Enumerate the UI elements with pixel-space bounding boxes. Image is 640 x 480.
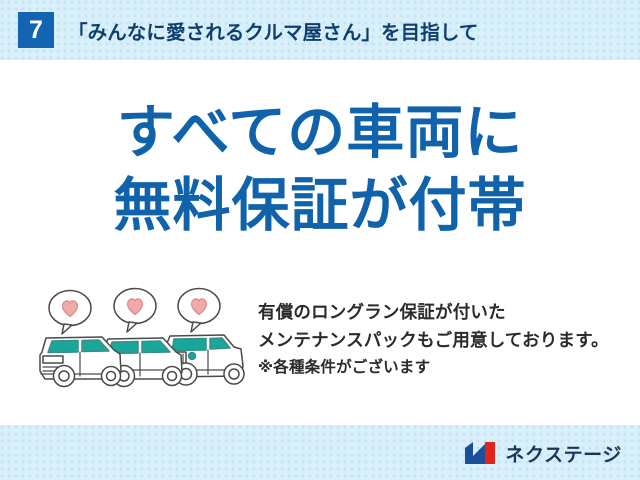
headline-line-1: すべての車両に bbox=[0, 96, 640, 169]
heart-bubble-1 bbox=[49, 291, 91, 335]
content-row: 有償のロングラン保証が付いた メンテナンスパックもご用意しております。 ※各種条… bbox=[0, 286, 640, 406]
description-note: ※各種条件がございます bbox=[258, 355, 636, 380]
heart-bubble-3 bbox=[178, 289, 220, 333]
description-line-1: 有償のロングラン保証が付いた bbox=[258, 298, 636, 326]
cars-illustration bbox=[34, 286, 256, 396]
kei-wagon-car bbox=[40, 337, 121, 387]
cars-illustration-svg bbox=[34, 286, 256, 396]
section-number-badge: 7 bbox=[18, 12, 54, 48]
header-title: 「みんなに愛されるクルマ屋さん」を目指して bbox=[68, 16, 478, 45]
brand-name: ネクステージ bbox=[505, 440, 622, 467]
warranty-promo-banner: 7 「みんなに愛されるクルマ屋さん」を目指して すべての車両に 無料保証が付帯 bbox=[0, 0, 640, 480]
brand-logo: ネクステージ bbox=[464, 438, 622, 468]
description-block: 有償のロングラン保証が付いた メンテナンスパックもご用意しております。 ※各種条… bbox=[258, 298, 636, 380]
headline-block: すべての車両に 無料保証が付帯 bbox=[0, 96, 640, 242]
heart-bubble-2 bbox=[114, 289, 156, 333]
nextage-n-logo-icon bbox=[464, 440, 498, 466]
headline-line-2: 無料保証が付帯 bbox=[0, 169, 640, 242]
description-line-2: メンテナンスパックもご用意しております。 bbox=[258, 326, 636, 354]
banner-header: 7 「みんなに愛されるクルマ屋さん」を目指して bbox=[0, 0, 640, 60]
